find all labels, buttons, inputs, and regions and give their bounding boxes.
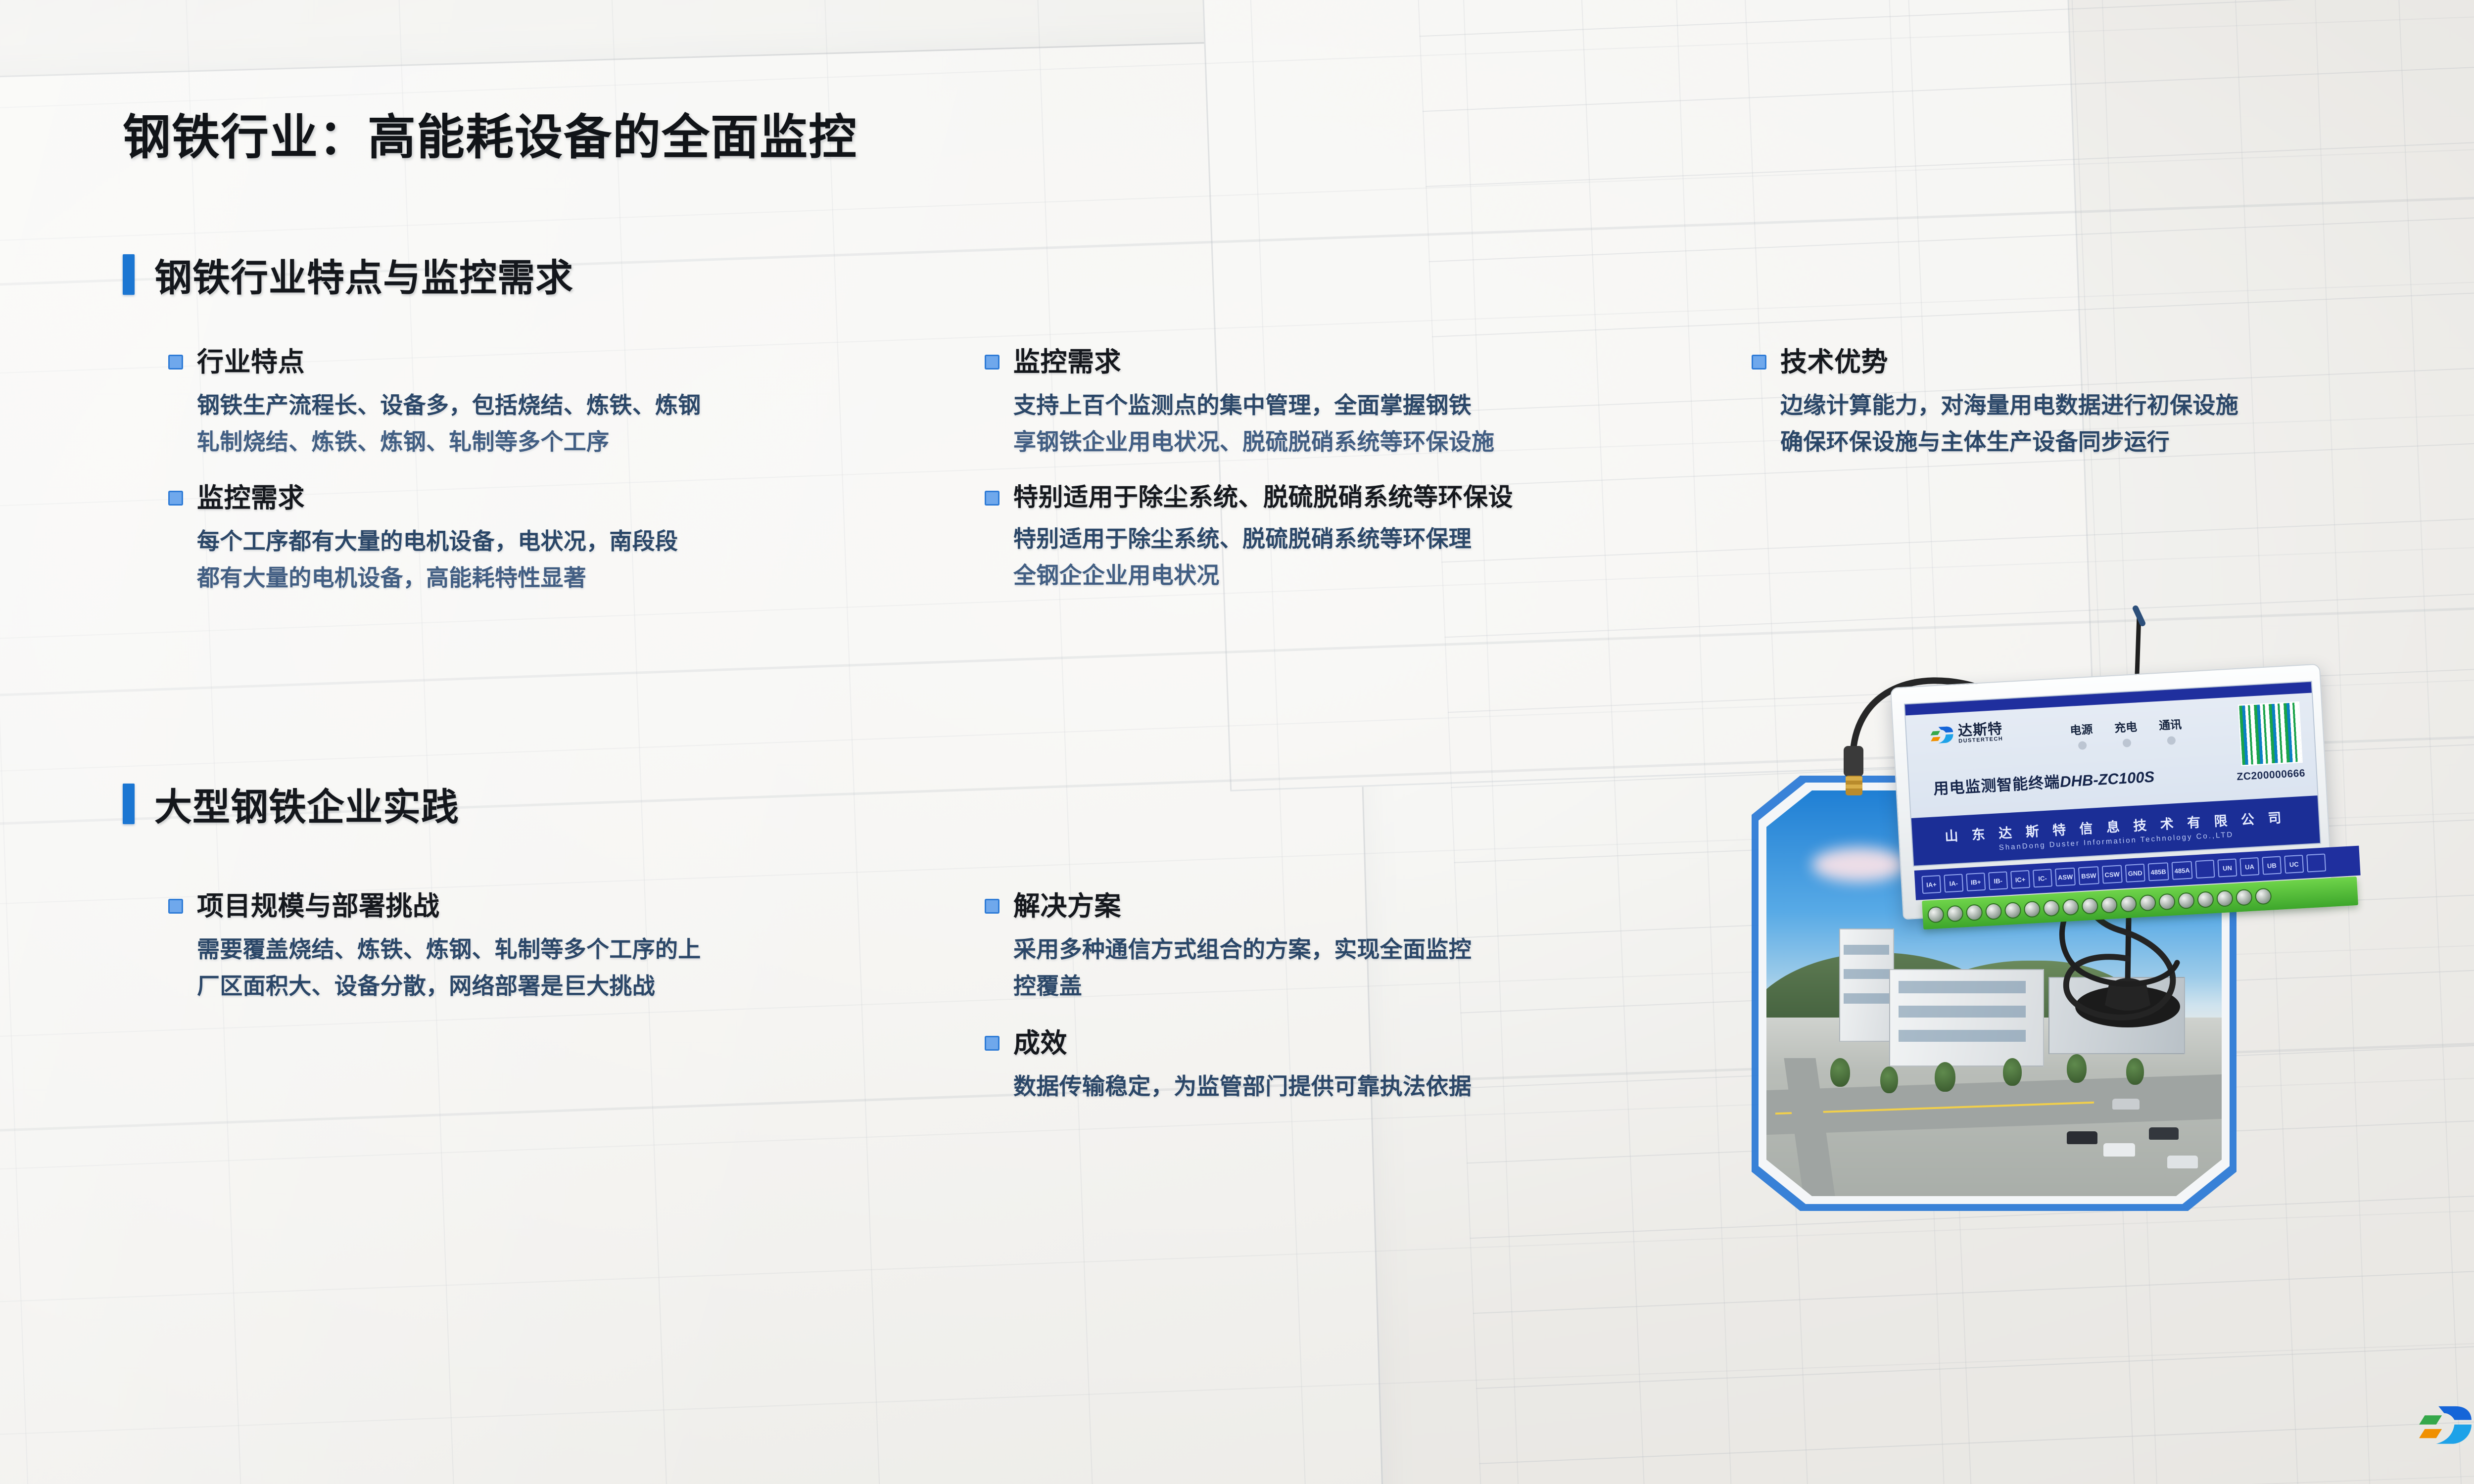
item-body: 数据传输稳定，为监管部门提供可靠执法依据 [1013,1068,1727,1105]
item-body-line: 每个工序都有大量的电机设备，电状况，南段段 [197,523,891,560]
item-header: 技术优势 [1752,346,2474,379]
terminal-label: IB- [1988,871,2008,890]
item-body: 需要覆盖烧结、炼铁、炼钢、轧制等多个工序的上 厂区面积大、设备分散，网络部署是巨… [197,931,910,1005]
item-header: 行业特点 [168,346,891,379]
terminal-label [2195,860,2215,879]
item-body-line: 确保环保设施与主体生产设备同步运行 [1780,423,2474,461]
item-body-line: 控覆盖 [1013,968,1727,1005]
bullet-square-icon [1752,355,1766,370]
bullet-square-icon [168,491,183,506]
screw-icon [2120,895,2137,912]
qr-code-icon [2238,701,2303,766]
screw-icon [2139,894,2156,911]
led-indicator-icon [2167,736,2176,745]
bullet-square-icon [985,1036,999,1051]
screw-icon [2236,888,2253,906]
screw-icon [2043,899,2060,917]
screw-icon [1985,903,2002,920]
item-title: 监控需求 [197,482,305,515]
terminal-label: IC+ [2010,870,2030,889]
item-title: 项目规模与部署挑战 [197,890,440,923]
item-body-line: 轧制烧结、炼铁、炼钢、轧制等多个工序 [197,423,891,461]
section-1-column-1: 行业特点 钢铁生产流程长、设备多，包括烧结、炼铁、炼钢 轧制烧结、炼铁、炼钢、轧… [168,346,891,618]
item-header: 监控需求 [168,482,891,515]
item-header: 特别适用于除尘系统、脱硫脱硝系统等环保设 [985,482,1727,512]
item-body: 钢铁生产流程长、设备多，包括烧结、炼铁、炼钢 轧制烧结、炼铁、炼钢、轧制等多个工… [197,387,891,461]
item-title: 特别适用于除尘系统、脱硫脱硝系统等环保设 [1013,482,1513,512]
terminal-label: UC [2284,855,2304,874]
item-title: 解决方案 [1013,890,1121,923]
item-body-line: 全钢企企业用电状况 [1013,557,1727,594]
item-title: 成效 [1013,1027,1067,1060]
section-2-column-2: 解决方案 采用多种通信方式组合的方案，实现全面监控 控覆盖 成效 数据传输稳定，… [985,890,1727,1126]
list-item: 项目规模与部署挑战 需要覆盖烧结、炼铁、炼钢、轧制等多个工序的上 厂区面积大、设… [168,890,910,1005]
device-brand-logo: 达斯特 DUSTERTECH [1930,722,2003,745]
list-item: 解决方案 采用多种通信方式组合的方案，实现全面监控 控覆盖 [985,890,1727,1005]
section-1-column-3: 技术优势 边缘计算能力，对海量用电数据进行初保设施 确保环保设施与主体生产设备同… [1752,346,2474,482]
dustertech-logo-icon [1930,725,1953,746]
section-2: 大型钢铁企业实践 [123,777,459,831]
device-serial-number: ZC200000666 [2236,767,2306,783]
list-item: 特别适用于除尘系统、脱硫脱硝系统等环保设 特别适用于除尘系统、脱硫脱硝系统等环保… [985,482,1727,594]
terminal-label: IB+ [1966,873,1986,891]
item-header: 监控需求 [985,346,1727,379]
item-body: 特别适用于除尘系统、脱硫脱硝系统等环保理 全钢企企业用电状况 [1013,520,1727,594]
list-item: 成效 数据传输稳定，为监管部门提供可靠执法依据 [985,1027,1727,1105]
bullet-square-icon [168,899,183,914]
section-accent-bar [123,254,135,295]
led-label: 通讯 [2158,718,2182,732]
item-header: 解决方案 [985,890,1727,923]
item-body-line: 厂区面积大、设备分散，网络部署是巨大挑战 [197,968,910,1005]
terminal-label: IC- [2033,869,2052,887]
item-body: 支持上百个监测点的集中管理，全面掌握钢铁 享钢铁企业用电状况、脱硫脱硝系统等环保… [1013,387,1727,461]
terminal-label: ASW [2055,868,2076,886]
device-brand-text: 达斯特 DUSTERTECH [1957,722,2003,744]
device-brand-en: DUSTERTECH [1958,736,2003,744]
screw-icon [2216,890,2234,907]
section-2-title: 大型钢铁企业实践 [154,777,459,831]
item-body-line: 需要覆盖烧结、炼铁、炼钢、轧制等多个工序的上 [197,931,910,968]
device-led-labels: 电源 充电 通讯 [2069,715,2183,750]
slide-content: 钢铁行业：高能耗设备的全面监控 钢铁行业特点与监控需求 行业特点 钢铁生产流程长… [0,0,2474,1484]
screw-icon [2158,893,2176,910]
led-charge: 充电 [2114,717,2138,747]
item-body-line: 钢铁生产流程长、设备多，包括烧结、炼铁、炼钢 [197,387,891,424]
list-item: 监控需求 支持上百个监测点的集中管理，全面掌握钢铁 享钢铁企业用电状况、脱硫脱硝… [985,346,1727,461]
product-composite: 达斯特 DUSTERTECH 电源 充电 [1752,688,2345,1331]
dustertech-logo-icon [2418,1403,2473,1448]
item-body: 采用多种通信方式组合的方案，实现全面监控 控覆盖 [1013,931,1727,1005]
terminal-label: IA+ [1921,875,1941,894]
item-body-line: 特别适用于除尘系统、脱硫脱硝系统等环保理 [1013,520,1727,557]
item-body-line: 边缘计算能力，对海量用电数据进行初保设施 [1780,387,2474,424]
led-label: 电源 [2070,723,2093,737]
bullet-square-icon [985,491,999,506]
item-body-line: 享钢铁企业用电状况、脱硫脱硝系统等环保设施 [1013,423,1727,461]
terminal-label: 485A [2172,861,2193,880]
page-title: 钢铁行业：高能耗设备的全面监控 [123,98,857,168]
item-body: 每个工序都有大量的电机设备，电状况，南段段 都有大量的电机设备，高能耗特性显著 [197,523,891,597]
screw-icon [1966,904,1983,921]
screw-icon [2100,896,2118,914]
device-front-panel: 达斯特 DUSTERTECH 电源 充电 [1904,681,2321,867]
slide-root: 钢铁行业：高能耗设备的全面监控 钢铁行业特点与监控需求 行业特点 钢铁生产流程长… [0,0,2474,1484]
screw-icon [2004,901,2022,919]
item-body-line: 数据传输稳定，为监管部门提供可靠执法依据 [1013,1068,1727,1105]
led-power: 电源 [2069,720,2093,750]
screw-icon [2062,898,2079,916]
section-2-column-1: 项目规模与部署挑战 需要覆盖烧结、炼铁、炼钢、轧制等多个工序的上 厂区面积大、设… [168,890,910,1026]
section-1: 钢铁行业特点与监控需求 [123,247,573,302]
led-label: 充电 [2114,720,2138,735]
terminal-label: IA- [1944,874,1963,892]
terminal-label: UB [2262,856,2282,875]
item-body-line: 都有大量的电机设备，高能耗特性显著 [197,559,891,597]
terminal-label: UA [2239,857,2259,876]
terminal-label: 485B [2148,862,2169,881]
bullet-square-icon [985,899,999,914]
list-item: 监控需求 每个工序都有大量的电机设备，电状况，南段段 都有大量的电机设备，高能耗… [168,482,891,597]
monitoring-terminal-device: 达斯特 DUSTERTECH 电源 充电 [1890,663,2333,920]
device-model-line: 用电监测智能终端DHB-ZC100S [1933,764,2155,799]
footer-brand-logo: 达斯特 DUSTERTECH [2418,1402,2474,1448]
item-body-line: 采用多种通信方式组合的方案，实现全面监控 [1013,931,1727,968]
screw-icon [2255,887,2272,905]
item-title: 行业特点 [197,346,305,379]
item-title: 技术优势 [1780,346,1888,379]
screw-icon [2024,900,2041,918]
section-2-heading: 大型钢铁企业实践 [123,777,459,831]
screw-icon [2081,897,2098,915]
item-body-line: 支持上百个监测点的集中管理，全面掌握钢铁 [1013,387,1727,424]
terminal-label: BSW [2078,866,2099,885]
led-indicator-icon [2078,741,2087,750]
list-item: 技术优势 边缘计算能力，对海量用电数据进行初保设施 确保环保设施与主体生产设备同… [1752,346,2474,461]
screw-icon [2178,892,2195,909]
item-header: 项目规模与部署挑战 [168,890,910,923]
terminal-label: GND [2125,864,2145,882]
device-model-code: DHB-ZC100S [2059,768,2155,790]
item-body: 边缘计算能力，对海量用电数据进行初保设施 确保环保设施与主体生产设备同步运行 [1780,387,2474,461]
section-1-column-2: 监控需求 支持上百个监测点的集中管理，全面掌握钢铁 享钢铁企业用电状况、脱硫脱硝… [985,346,1727,616]
bullet-square-icon [168,355,183,370]
led-indicator-icon [2122,739,2131,747]
section-accent-bar [123,784,135,824]
screw-icon [2197,891,2214,908]
screw-icon [1947,905,1964,922]
list-item: 行业特点 钢铁生产流程长、设备多，包括烧结、炼铁、炼钢 轧制烧结、炼铁、炼钢、轧… [168,346,891,461]
item-title: 监控需求 [1013,346,1121,379]
item-header: 成效 [985,1027,1727,1060]
terminal-label [2306,853,2326,872]
section-1-heading: 钢铁行业特点与监控需求 [123,247,573,302]
terminal-label: CSW [2101,865,2122,883]
screw-icon [1927,906,1945,923]
terminal-label: UN [2218,858,2237,877]
bullet-square-icon [985,355,999,370]
device-model-name: 用电监测智能终端 [1933,773,2061,797]
led-comm: 通讯 [2158,715,2183,745]
section-1-title: 钢铁行业特点与监控需求 [154,247,573,302]
